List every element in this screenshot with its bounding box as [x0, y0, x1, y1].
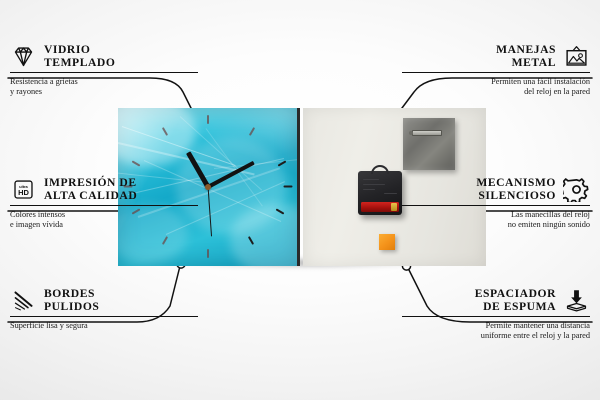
divider — [10, 72, 198, 73]
feature-title: MECANISMO SILENCIOSO — [476, 177, 556, 202]
clock-mechanism — [358, 171, 402, 215]
picture-frame-hook-icon — [563, 44, 590, 69]
divider — [10, 205, 198, 206]
feature-bordes-pulidos: BORDES PULIDOS Superficie lisa y segura — [10, 288, 198, 331]
metal-hanger-plate — [403, 118, 455, 170]
feature-desc: Las manecillas del reloj no emiten ningú… — [402, 210, 590, 231]
feature-desc: Resistencia a grietas y rayones — [10, 77, 198, 98]
feature-title: MANEJAS METAL — [496, 44, 556, 69]
feature-desc: Superficie lisa y segura — [10, 321, 198, 331]
feature-mecanismo-silencioso: MECANISMO SILENCIOSO Las manecillas del … — [402, 177, 590, 231]
feature-manejas-metal: MANEJAS METAL Permiten una fácil instala… — [402, 44, 590, 98]
feature-desc: Colores intensos e imagen vívida — [10, 210, 198, 231]
feature-impresion-alta-calidad: ultra HD IMPRESIÓN DE ALTA CALIDAD Color… — [10, 177, 198, 231]
feature-title: IMPRESIÓN DE ALTA CALIDAD — [44, 177, 137, 202]
infographic-canvas: VIDRIO TEMPLADO Resistencia a grietas y … — [0, 0, 600, 400]
divider — [10, 316, 198, 317]
polished-edges-icon — [10, 288, 37, 313]
hands-cap — [205, 184, 211, 190]
battery — [361, 202, 399, 212]
feature-desc: Permite mantener una distancia uniforme … — [402, 321, 590, 342]
battery-terminal — [391, 203, 397, 211]
foam-spacer — [379, 234, 395, 250]
feature-espaciador-espuma: ESPACIADOR DE ESPUMA Permite mantener un… — [402, 288, 590, 342]
feature-desc: Permiten una fácil instalación del reloj… — [402, 77, 590, 98]
divider — [402, 205, 590, 206]
foam-spacer-icon — [563, 288, 590, 313]
diamond-icon — [10, 44, 37, 69]
divider — [402, 316, 590, 317]
mechanism-hanger-loop — [371, 165, 389, 174]
svg-text:HD: HD — [18, 188, 29, 197]
hanger-slot — [412, 130, 442, 136]
feature-vidrio-templado: VIDRIO TEMPLADO Resistencia a grietas y … — [10, 44, 198, 98]
divider — [402, 72, 590, 73]
gear-icon — [563, 177, 590, 202]
feature-title: ESPACIADOR DE ESPUMA — [475, 288, 556, 313]
feature-title: BORDES PULIDOS — [44, 288, 99, 313]
feature-title: VIDRIO TEMPLADO — [44, 44, 115, 69]
ultra-hd-icon: ultra HD — [10, 177, 37, 202]
